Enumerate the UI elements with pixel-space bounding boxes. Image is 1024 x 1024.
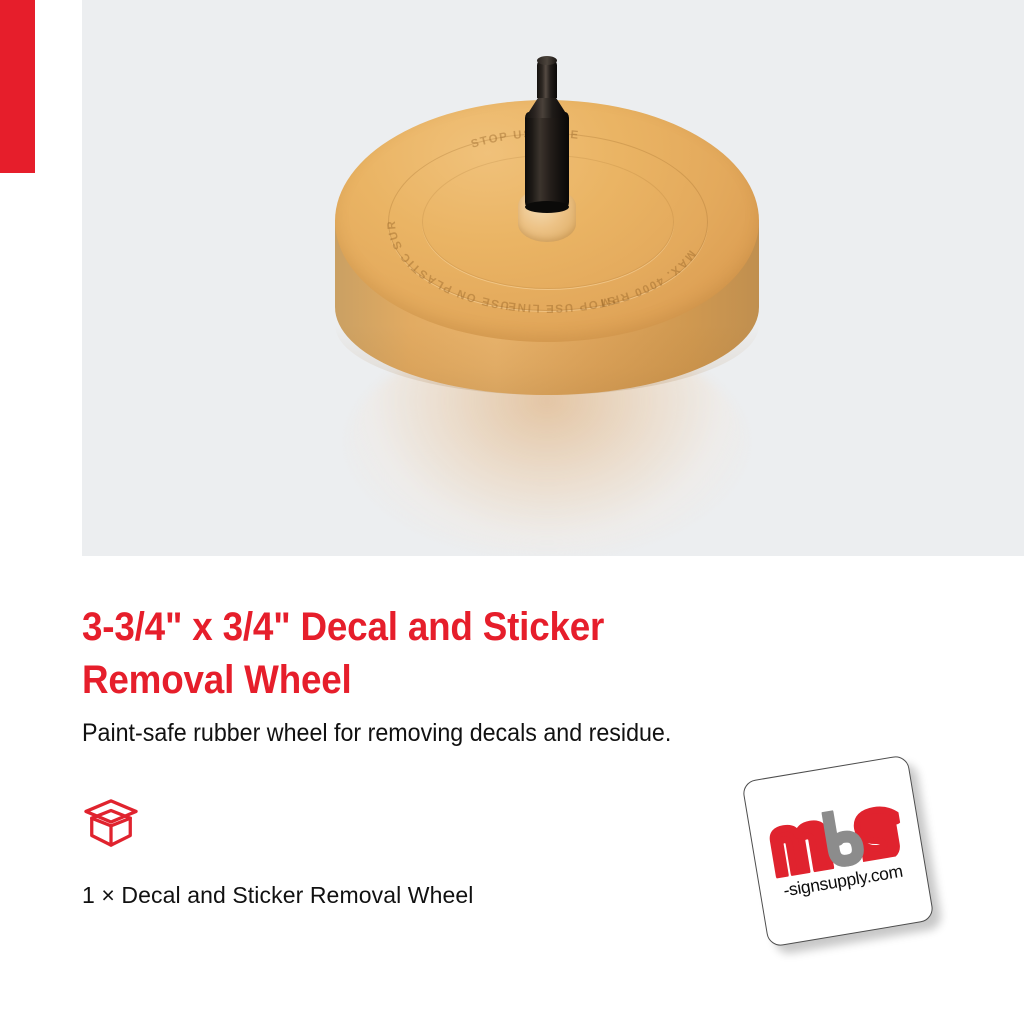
product-image-panel: STOP USE LINE MAX. 4000 RPM STOP USE LIN… [82, 0, 1024, 556]
product-subtitle: Paint-safe rubber wheel for removing dec… [82, 717, 845, 750]
product-photo: STOP USE LINE MAX. 4000 RPM STOP USE LIN… [335, 60, 759, 520]
open-box-icon [80, 797, 142, 849]
package-contents-line: 1 × Decal and Sticker Removal Wheel [82, 881, 842, 911]
logo-card: -signsupply.com [741, 754, 934, 947]
product-card: STOP USE LINE MAX. 4000 RPM STOP USE LIN… [0, 0, 1024, 1024]
arbor-base-cylinder [525, 112, 569, 208]
product-title: 3-3/4" x 3/4" Decal and Sticker Removal … [82, 601, 726, 707]
accent-bar [0, 0, 35, 173]
arbor-shank [537, 60, 557, 98]
brand-logo[interactable]: -signsupply.com [740, 757, 936, 947]
